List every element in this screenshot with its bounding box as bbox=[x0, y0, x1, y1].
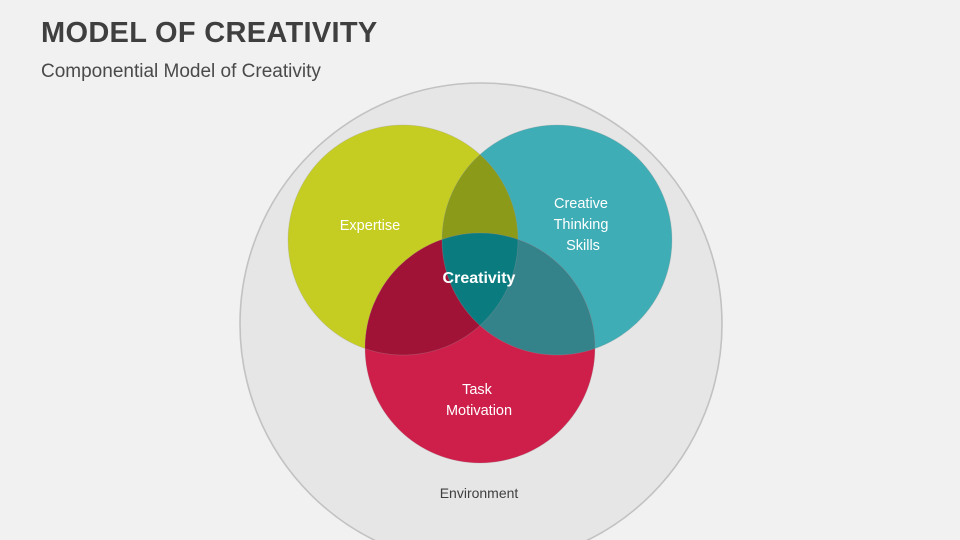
label-tm-line-1: Task bbox=[462, 382, 493, 398]
label-tm-line-2: Motivation bbox=[446, 403, 512, 419]
label-creativity: Creativity bbox=[443, 270, 516, 287]
label-environment: Environment bbox=[440, 485, 519, 501]
label-cts-line-2: Thinking bbox=[554, 217, 609, 233]
venn-diagram: Expertise Creative Thinking Skills Task … bbox=[0, 0, 960, 540]
label-cts-line-3: Skills bbox=[566, 238, 600, 254]
slide-canvas: MODEL OF CREATIVITY Componential Model o… bbox=[0, 0, 960, 540]
label-cts-line-1: Creative bbox=[554, 196, 608, 212]
label-expertise: Expertise bbox=[340, 218, 400, 234]
